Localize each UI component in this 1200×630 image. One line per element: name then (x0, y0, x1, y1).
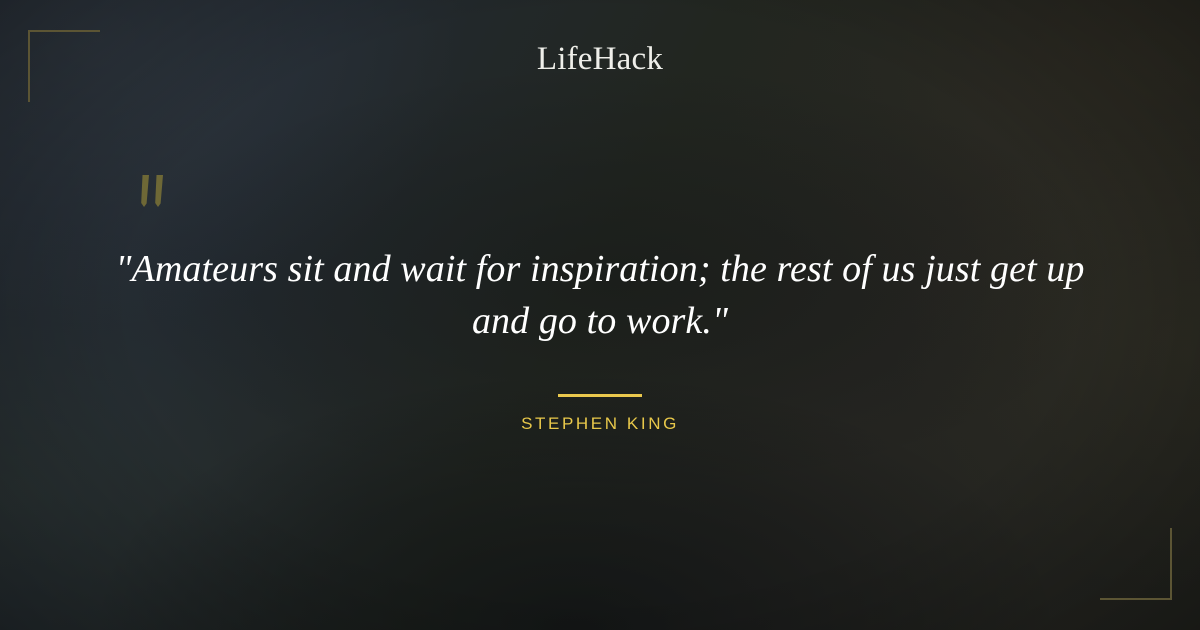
divider-container (0, 384, 1200, 402)
double-quote-icon (134, 172, 178, 216)
corner-bracket-bottom-right-icon (1100, 528, 1172, 600)
quote-block: "Amateurs sit and wait for inspiration; … (0, 243, 1200, 347)
attribution-container: STEPHEN KING (0, 414, 1200, 434)
quote-card: LifeHack "Amateurs sit and wait for insp… (0, 0, 1200, 630)
lifehack-logo: LifeHack (0, 41, 1200, 78)
quote-text: "Amateurs sit and wait for inspiration; … (95, 243, 1105, 347)
author-name: STEPHEN KING (521, 414, 679, 434)
gold-divider (558, 394, 642, 397)
